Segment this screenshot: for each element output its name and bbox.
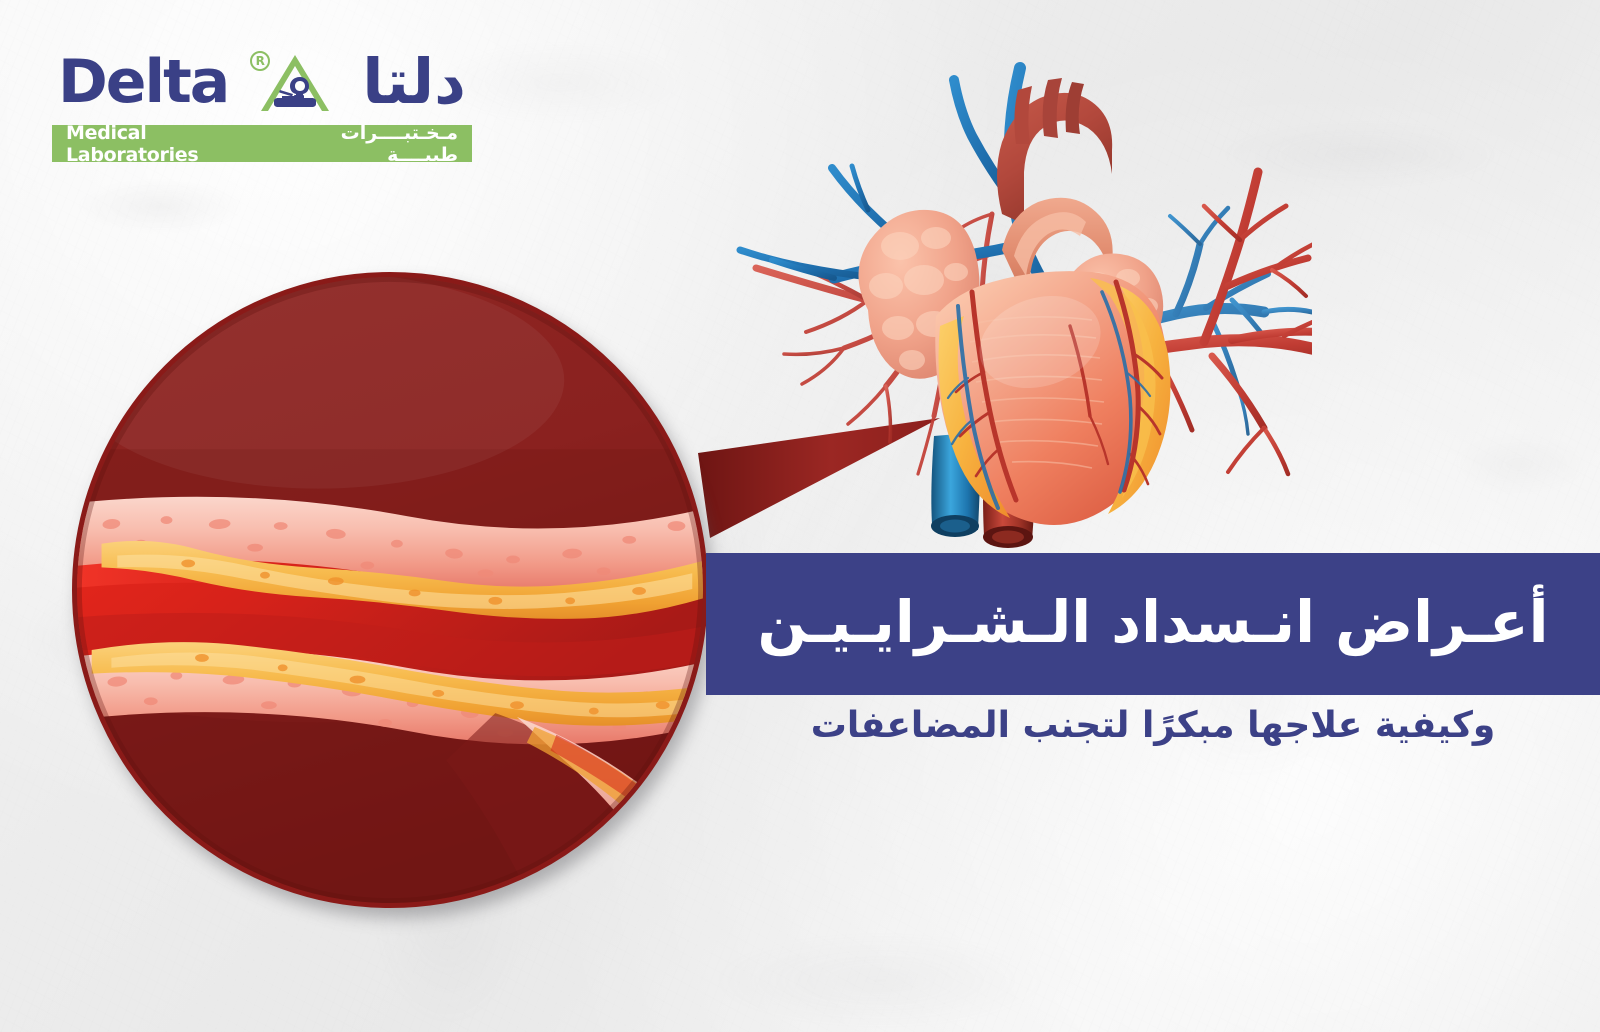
microscope-in-triangle-icon: R: [252, 47, 338, 117]
brand-logo[interactable]: Delta R دلتا Medical Laboratories: [52, 44, 472, 162]
page-title: أعـراض انـسداد الـشـرايـيـن: [758, 593, 1549, 655]
title-banner: أعـراض انـسداد الـشـرايـيـن: [706, 553, 1600, 695]
logo-tagline-bar: Medical Laboratories مـخـتبــــرات طبيــ…: [52, 125, 472, 162]
logo-tagline-en: Medical Laboratories: [66, 122, 273, 166]
poster-canvas: Delta R دلتا Medical Laboratories: [0, 0, 1600, 1032]
logo-tagline-ar: مـخـتبــــرات طبيــــة: [273, 122, 458, 166]
page-subtitle: وكيفية علاجها مبكرًا لتجنب المضاعفات: [706, 706, 1600, 746]
logo-name-ar: دلتا: [362, 51, 466, 113]
logo-name-en: Delta: [58, 52, 228, 112]
logo-top-row: Delta R دلتا: [52, 44, 472, 120]
anatomical-heart-illustration: [672, 24, 1312, 594]
artery-magnifier-circle: [72, 272, 708, 908]
